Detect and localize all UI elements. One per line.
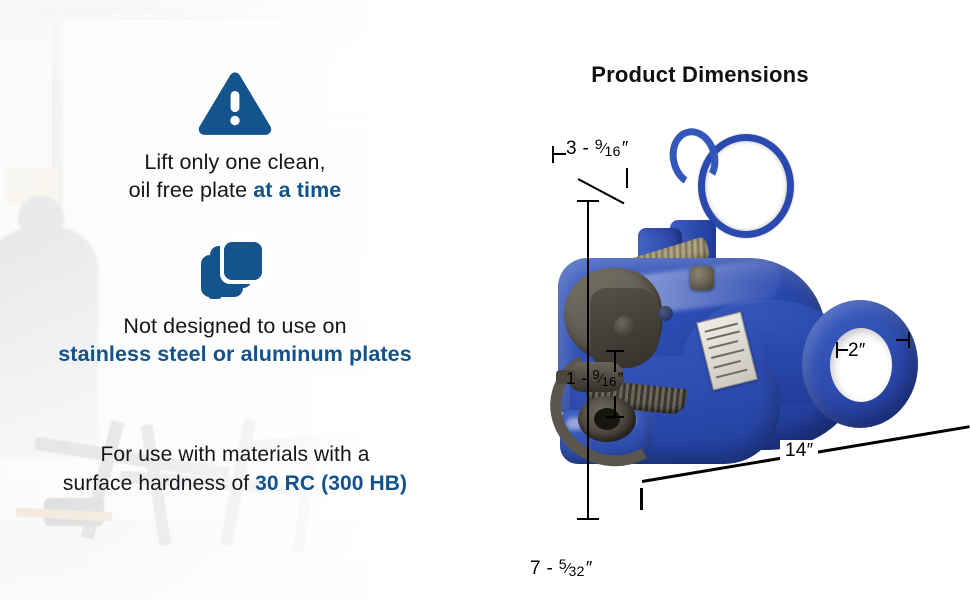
- feature-item-lift-one-plate: Lift only one clean, oil free plate at a…: [0, 62, 470, 204]
- page-title: Product Dimensions: [430, 62, 970, 88]
- feature-list: Lift only one clean, oil free plate at a…: [0, 0, 470, 600]
- feature-line-1: Lift only one clean,: [144, 150, 325, 174]
- feature-line-2-emphasis: at a time: [253, 178, 341, 202]
- feature-line-1: Not designed to use on: [123, 314, 346, 338]
- infographic-canvas: Lift only one clean, oil free plate at a…: [0, 0, 970, 600]
- feature-item-not-for-stainless: Not designed to use on stainless steel o…: [0, 232, 470, 368]
- product-illustration-lifting-clamp: 7 - 5⁄32″ 1 - 9⁄16″ 3 - 9⁄16″: [530, 110, 970, 470]
- dimension-cap-jaw-opening-arm: [552, 153, 566, 155]
- dimension-cap-bottom: [577, 518, 599, 520]
- dimension-label-jaw-opening: 3 - 9⁄16″: [566, 138, 629, 160]
- dimension-label-overall-height: 7 - 5⁄32″: [530, 558, 593, 580]
- dimension-line-overall-height: [587, 200, 589, 520]
- feature-text: For use with materials with a surface ha…: [0, 440, 470, 498]
- dimension-cap-eye-left-arm: [836, 349, 848, 351]
- dimension-line-jaw-height-lower: [614, 396, 616, 418]
- dimension-cap-eye-right-arm: [896, 339, 910, 341]
- dimension-cap-top: [577, 200, 599, 202]
- dimension-leader-cap: [626, 168, 628, 188]
- feature-item-surface-hardness: For use with materials with a surface ha…: [0, 440, 470, 498]
- feature-line-2-plain: surface hardness of: [63, 472, 255, 495]
- dimension-cap-jaw-bottom: [606, 416, 624, 418]
- product-dimensions-panel: Product Dimensions: [430, 0, 970, 600]
- cam-pivot-pin: [614, 316, 636, 338]
- hex-bolt: [690, 266, 714, 290]
- feature-line-2-emphasis: stainless steel or aluminum plates: [58, 342, 412, 366]
- warning-triangle-icon: [0, 62, 470, 148]
- dimension-cap-jaw-top: [606, 350, 624, 352]
- dimension-label-eye-opening: 2″: [848, 340, 866, 362]
- dimension-label-jaw-height: 1 - 9⁄16″: [566, 368, 624, 389]
- set-screw-hole-secondary: [658, 306, 673, 321]
- dimension-cap-length-left: [640, 488, 643, 510]
- feature-line-2-plain: oil free plate: [129, 178, 254, 202]
- dimension-label-overall-length: 14″: [780, 440, 818, 462]
- feature-text: Lift only one clean, oil free plate at a…: [0, 148, 470, 204]
- feature-line-1: For use with materials with a: [101, 443, 370, 466]
- feature-line-2-emphasis: 30 RC (300 HB): [255, 472, 407, 495]
- feature-text: Not designed to use on stainless steel o…: [0, 312, 470, 368]
- stacked-plates-icon: [0, 232, 470, 312]
